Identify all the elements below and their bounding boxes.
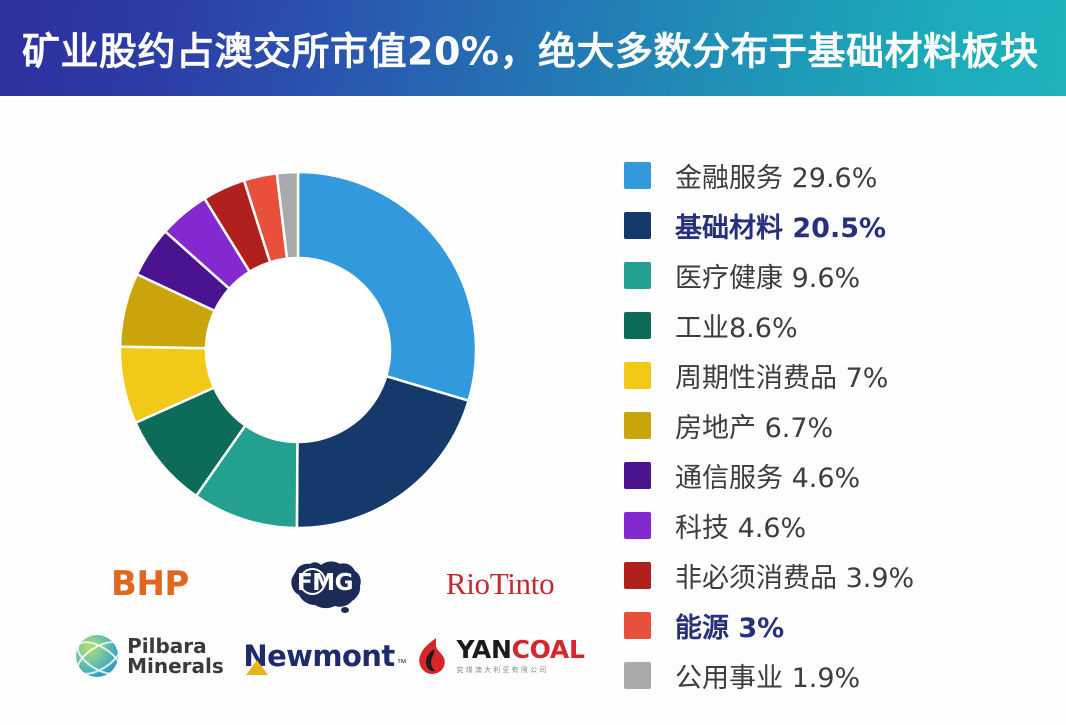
logo-riotinto: RioTinto bbox=[410, 548, 590, 620]
legend-swatch-icon bbox=[624, 212, 651, 239]
logo-fmg-mark: FMG bbox=[282, 553, 368, 615]
flame-icon bbox=[415, 637, 449, 675]
legend-item[interactable]: 工业8.6% bbox=[624, 300, 1044, 350]
legend-swatch-icon bbox=[624, 162, 651, 189]
legend-item-label: 基础材料 20.5% bbox=[675, 206, 886, 245]
logo-fmg: FMG bbox=[240, 548, 410, 620]
legend-swatch-icon bbox=[624, 512, 651, 539]
legend-swatch-icon bbox=[624, 562, 651, 589]
legend-item[interactable]: 通信服务 4.6% bbox=[624, 450, 1044, 500]
legend-item[interactable]: 能源 3% bbox=[624, 600, 1044, 650]
legend-item[interactable]: 医疗健康 9.6% bbox=[624, 250, 1044, 300]
legend-item[interactable]: 公用事业 1.9% bbox=[624, 650, 1044, 700]
donut-chart-svg bbox=[112, 164, 484, 536]
legend-item-label: 周期性消费品 7% bbox=[675, 356, 888, 395]
logo-newmont-trademark: ™ bbox=[397, 658, 407, 669]
logo-newmont: Newmont ™ bbox=[240, 620, 410, 692]
legend-swatch-icon bbox=[624, 312, 651, 339]
logo-row-bottom: Pilbara Minerals Newmont ™ bbox=[60, 620, 590, 692]
logo-bhp: BHP bbox=[60, 548, 240, 620]
legend-item-label: 金融服务 29.6% bbox=[675, 156, 877, 195]
chart-legend: 金融服务 29.6%基础材料 20.5%医疗健康 9.6%工业8.6%周期性消费… bbox=[624, 150, 1044, 700]
logo-yancoal: YANCOAL 兖煤澳大利亚有限公司 bbox=[410, 620, 590, 692]
logo-pilbara-text: Pilbara Minerals bbox=[127, 636, 224, 677]
logo-yancoal-part2: COAL bbox=[512, 635, 585, 664]
content-area: 金融服务 29.6%基础材料 20.5%医疗健康 9.6%工业8.6%周期性消费… bbox=[0, 96, 1066, 725]
legend-swatch-icon bbox=[624, 662, 651, 689]
legend-item-label: 公用事业 1.9% bbox=[675, 656, 860, 695]
legend-item[interactable]: 基础材料 20.5% bbox=[624, 200, 1044, 250]
logo-yancoal-text: YANCOAL 兖煤澳大利亚有限公司 bbox=[456, 637, 584, 675]
legend-item-label: 通信服务 4.6% bbox=[675, 456, 860, 495]
logo-pilbara-mark: Pilbara Minerals bbox=[76, 635, 224, 677]
fmg-circle-accent bbox=[299, 568, 326, 595]
legend-item-label: 房地产 6.7% bbox=[675, 406, 833, 445]
logo-row-top: BHP FMG RioTinto bbox=[60, 548, 590, 620]
legend-item-label: 工业8.6% bbox=[675, 306, 798, 345]
flame-icon-svg bbox=[415, 637, 449, 675]
logo-riotinto-text: RioTinto bbox=[446, 566, 554, 602]
donut-chart bbox=[112, 164, 484, 536]
legend-item[interactable]: 非必须消费品 3.9% bbox=[624, 550, 1044, 600]
legend-item[interactable]: 周期性消费品 7% bbox=[624, 350, 1044, 400]
triangle-icon bbox=[246, 660, 268, 675]
donut-hole bbox=[206, 258, 390, 442]
legend-item-label: 非必须消费品 3.9% bbox=[675, 556, 914, 595]
logo-yancoal-main: YANCOAL bbox=[456, 637, 584, 662]
logo-newmont-mark: Newmont ™ bbox=[243, 639, 406, 673]
logo-pilbara-minerals: Pilbara Minerals bbox=[60, 620, 240, 692]
globe-icon bbox=[76, 635, 118, 677]
legend-swatch-icon bbox=[624, 412, 651, 439]
legend-item[interactable]: 科技 4.6% bbox=[624, 500, 1044, 550]
legend-swatch-icon bbox=[624, 262, 651, 289]
page-title: 矿业股约占澳交所市值20%，绝大多数分布于基础材料板块 bbox=[22, 21, 1038, 76]
legend-item[interactable]: 金融服务 29.6% bbox=[624, 150, 1044, 200]
legend-swatch-icon bbox=[624, 362, 651, 389]
logo-yancoal-mark: YANCOAL 兖煤澳大利亚有限公司 bbox=[415, 637, 584, 675]
legend-swatch-icon bbox=[624, 612, 651, 639]
company-logo-grid: BHP FMG RioTinto bbox=[60, 548, 590, 718]
legend-item-label: 科技 4.6% bbox=[675, 506, 806, 545]
logo-pilbara-line2: Minerals bbox=[127, 656, 224, 676]
legend-item-label: 能源 3% bbox=[675, 606, 784, 645]
legend-item-label: 医疗健康 9.6% bbox=[675, 256, 860, 295]
logo-yancoal-part1: YAN bbox=[456, 635, 511, 664]
legend-item[interactable]: 房地产 6.7% bbox=[624, 400, 1044, 450]
legend-swatch-icon bbox=[624, 462, 651, 489]
logo-bhp-text: BHP bbox=[111, 564, 189, 604]
header-banner: 矿业股约占澳交所市值20%，绝大多数分布于基础材料板块 bbox=[0, 0, 1066, 96]
logo-pilbara-line1: Pilbara bbox=[127, 636, 224, 656]
logo-yancoal-subtext: 兖煤澳大利亚有限公司 bbox=[456, 665, 584, 675]
